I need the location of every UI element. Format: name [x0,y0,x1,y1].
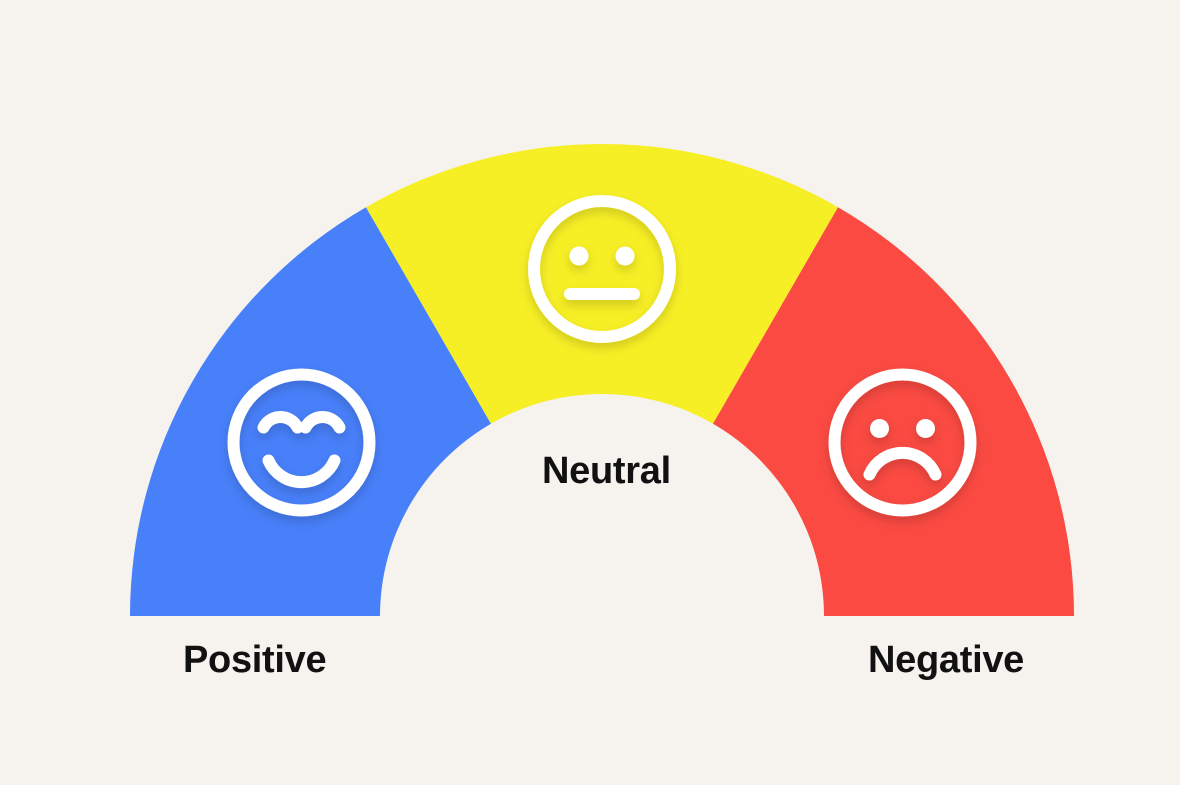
segment-label-negative: Negative [868,641,1024,679]
segment-label-neutral: Neutral [542,452,671,490]
segment-label-positive: Positive [183,641,326,679]
sentiment-gauge-canvas: Positive Neutral Negative [0,0,1180,785]
